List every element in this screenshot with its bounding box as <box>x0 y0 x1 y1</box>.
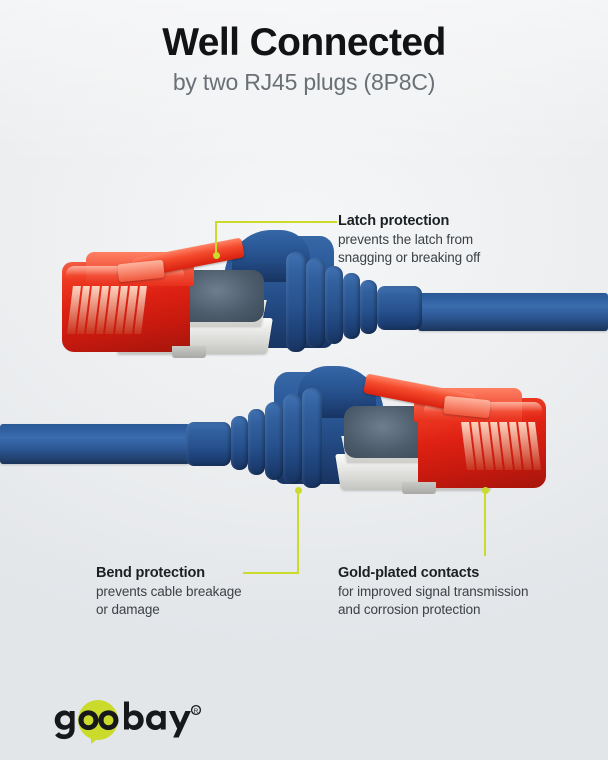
callout-line: prevents cable breakage <box>96 583 336 601</box>
callout-line: snagging or breaking off <box>338 249 588 267</box>
callout-line: and corrosion protection <box>338 601 588 619</box>
callout-bend-protection: Bend protection prevents cable breakage … <box>96 565 336 619</box>
registered-mark: R <box>192 706 201 715</box>
product-illustration <box>0 0 608 760</box>
goobay-logo-svg: R <box>42 700 212 744</box>
callout-heading: Gold-plated contacts <box>338 565 588 581</box>
callout-line: or damage <box>96 601 336 619</box>
callout-line: prevents the latch from <box>338 231 588 249</box>
callout-gold-plated-contacts: Gold-plated contacts for improved signal… <box>338 565 588 619</box>
goobay-wordmark <box>55 702 191 740</box>
cable-lower <box>0 424 190 464</box>
callout-heading: Bend protection <box>96 565 336 581</box>
svg-text:R: R <box>194 708 199 715</box>
contact-pins-lower <box>461 422 541 470</box>
cable-upper <box>418 293 608 331</box>
callout-line: for improved signal transmission <box>338 583 588 601</box>
goobay-logo: R <box>42 700 212 744</box>
callout-latch-protection: Latch protection prevents the latch from… <box>338 213 588 267</box>
contact-pins-upper <box>67 286 147 334</box>
callout-heading: Latch protection <box>338 213 588 229</box>
